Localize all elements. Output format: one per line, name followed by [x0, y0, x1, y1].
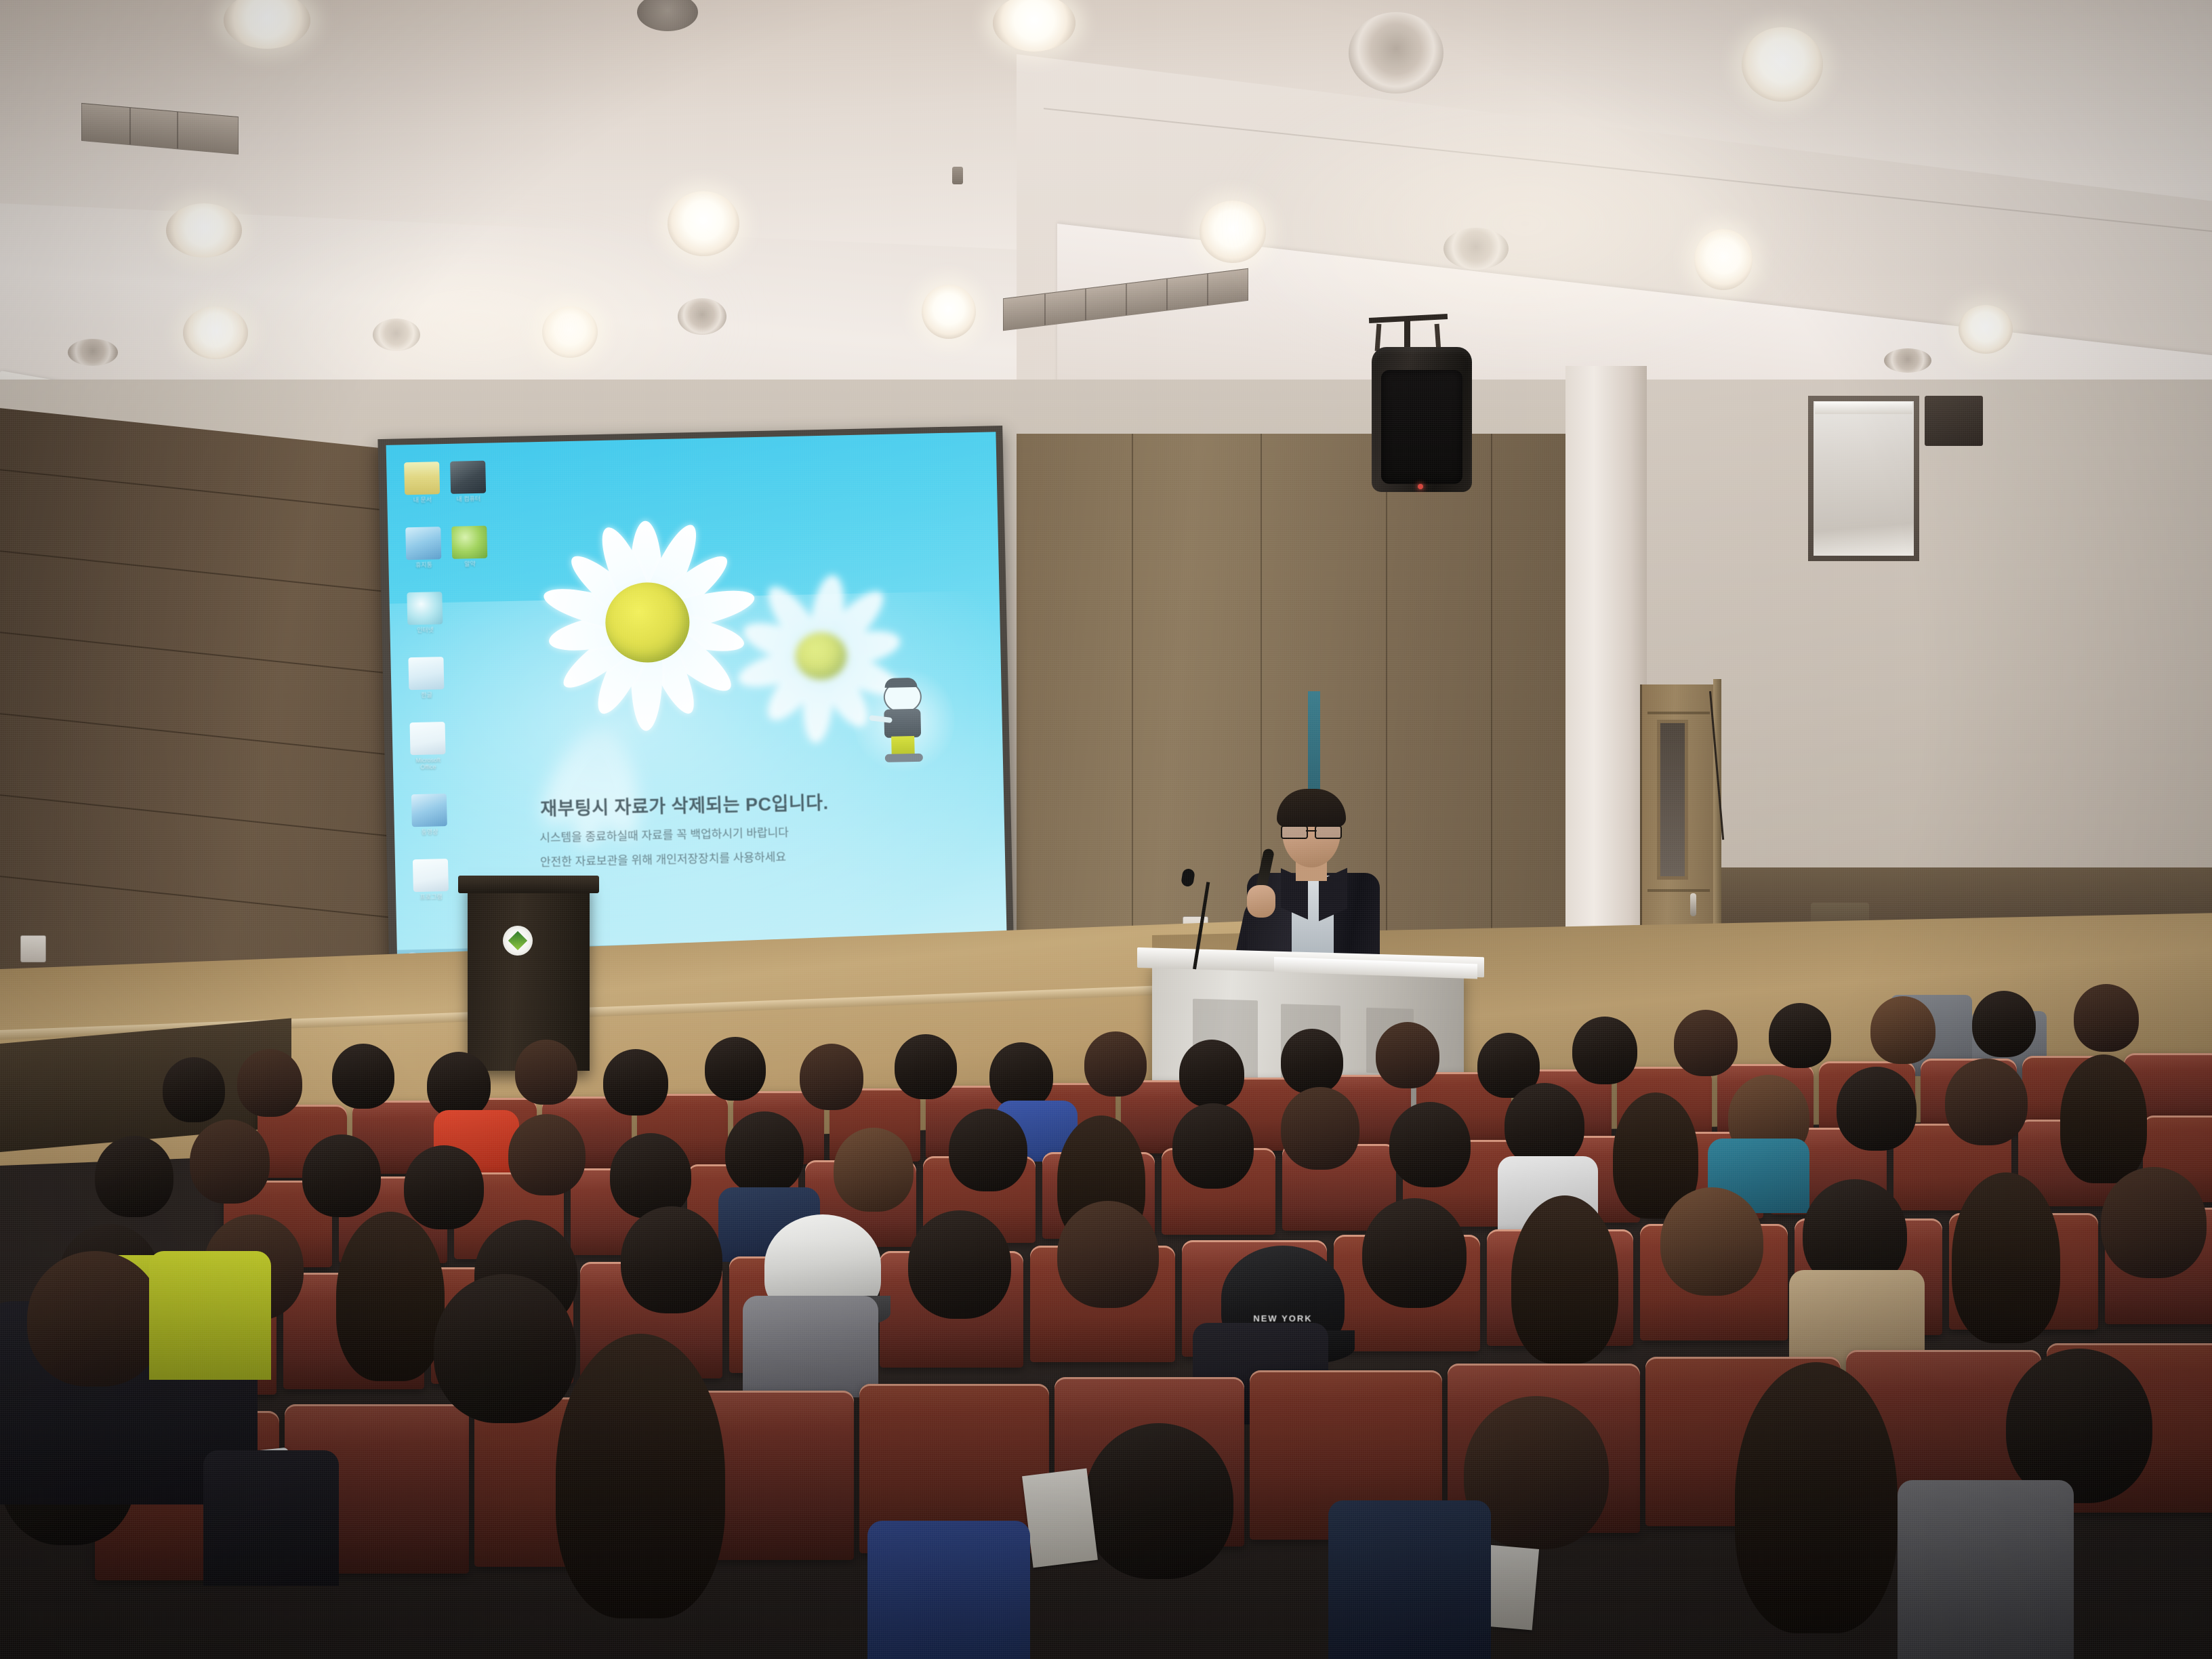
desktop-icon[interactable]: 내 문서 [401, 462, 443, 504]
audience-head-long-hair [2060, 1054, 2147, 1183]
desktop-icon[interactable]: 동영상 [409, 794, 450, 836]
audience-head [1084, 1423, 1233, 1579]
door-handle[interactable] [1690, 893, 1696, 916]
audience-head [989, 1042, 1053, 1109]
wall-speaker-icon [1925, 396, 1983, 446]
video-icon [411, 794, 447, 827]
document-icon [410, 722, 446, 755]
audience-head [1389, 1102, 1471, 1187]
audience-head [302, 1134, 381, 1217]
door-vision-panel [1657, 720, 1688, 880]
audience-head [1660, 1187, 1763, 1296]
program-icon [413, 859, 449, 892]
audience-head [895, 1034, 957, 1099]
audience-head [908, 1210, 1011, 1319]
audience-head [1057, 1201, 1159, 1308]
audience-head [404, 1145, 484, 1229]
speaker-grille-icon [1381, 370, 1462, 484]
audience-head [949, 1109, 1027, 1191]
cleaning-mascot-icon [863, 674, 945, 766]
ceiling-light [922, 285, 976, 339]
audience-head [1972, 991, 2036, 1057]
audience-head [163, 1057, 225, 1122]
desktop-icon[interactable]: 휴지통 [403, 527, 444, 569]
audience-head [603, 1049, 668, 1115]
audience-head [1084, 1031, 1147, 1097]
handout-paper[interactable] [1022, 1469, 1098, 1568]
audience-head [95, 1136, 173, 1217]
audience-head [725, 1111, 804, 1194]
desktop-icon[interactable]: Microsoft Office [407, 722, 449, 771]
audience-head [434, 1274, 576, 1423]
audience-head [1769, 1003, 1831, 1068]
ceiling-speaker-grille [1349, 12, 1443, 94]
audience-body [1328, 1500, 1491, 1659]
ceiling-light [668, 191, 739, 256]
speaker-stem [1404, 319, 1410, 348]
folder-icon [404, 462, 440, 495]
audience-head [1179, 1040, 1244, 1107]
mycomputer-icon [450, 461, 486, 494]
audience-head [1172, 1103, 1254, 1189]
audience-body [149, 1251, 271, 1380]
lectern-top [458, 876, 599, 893]
audience-head [1281, 1087, 1359, 1170]
audience-head [27, 1251, 163, 1387]
glasses-icon [1281, 825, 1342, 836]
audience-head [515, 1040, 577, 1105]
speaker-power-led [1418, 484, 1423, 489]
desktop-icon[interactable]: 알약 [449, 526, 490, 568]
audience-head [332, 1044, 394, 1109]
audience-head [237, 1049, 302, 1117]
audience-body [743, 1296, 878, 1397]
audience-head [1281, 1029, 1343, 1094]
ceiling-light [166, 203, 242, 258]
desktop-icon[interactable]: 내 컴퓨터 [447, 461, 489, 503]
desktop-icon[interactable]: 한글 [405, 657, 447, 699]
audience-head [1837, 1067, 1917, 1151]
audience-head [1362, 1198, 1467, 1308]
auditorium-scene: 내 문서 휴지통 인터넷 한글 Microsoft Office [0, 0, 2212, 1659]
audience-head-long-hair [1735, 1362, 1898, 1633]
audience-head [2101, 1167, 2207, 1278]
audience-head [621, 1206, 722, 1313]
audience-body [1898, 1480, 2074, 1659]
ceiling-light [1742, 27, 1823, 102]
pa-speaker [1372, 347, 1472, 492]
audience-head [800, 1044, 863, 1110]
audience-head [1572, 1017, 1637, 1084]
audience-head [1376, 1022, 1439, 1088]
ceiling-vent-cap [68, 339, 118, 366]
audience-head-long-hair [1511, 1195, 1618, 1364]
projection-booth-window [1808, 396, 1919, 561]
audience-head [1870, 996, 1935, 1064]
audience-head [1674, 1010, 1738, 1076]
audience-head [705, 1037, 766, 1101]
audience-head-long-hair [1952, 1172, 2060, 1343]
audience-head [1504, 1083, 1584, 1167]
audience-head [610, 1133, 691, 1218]
ceiling-light [1959, 305, 2013, 354]
computer-icon [405, 527, 441, 560]
audience-head-long-hair [556, 1334, 725, 1618]
audience-head [834, 1128, 914, 1212]
audience-head-long-hair [336, 1212, 445, 1381]
sprinkler-head [952, 167, 963, 184]
desktop-icon[interactable]: 인터넷 [404, 592, 445, 634]
audience-head [2074, 984, 2139, 1052]
audience-head [190, 1120, 270, 1204]
audience-body [867, 1521, 1030, 1659]
audience-head [508, 1114, 586, 1195]
audience-head [427, 1052, 491, 1118]
lectern[interactable] [468, 881, 590, 1071]
wall-outlet [20, 935, 46, 962]
internet-icon [407, 592, 443, 625]
desktop-icon[interactable]: 프로그램 [410, 859, 451, 901]
audience-body [203, 1450, 339, 1586]
antivirus-icon [451, 526, 487, 559]
ceiling-vent-cap [1884, 348, 1931, 373]
light-glow [1220, 81, 1830, 366]
hangul-icon [408, 657, 444, 690]
university-crest-icon [503, 926, 533, 956]
audience-head [1945, 1059, 2028, 1145]
